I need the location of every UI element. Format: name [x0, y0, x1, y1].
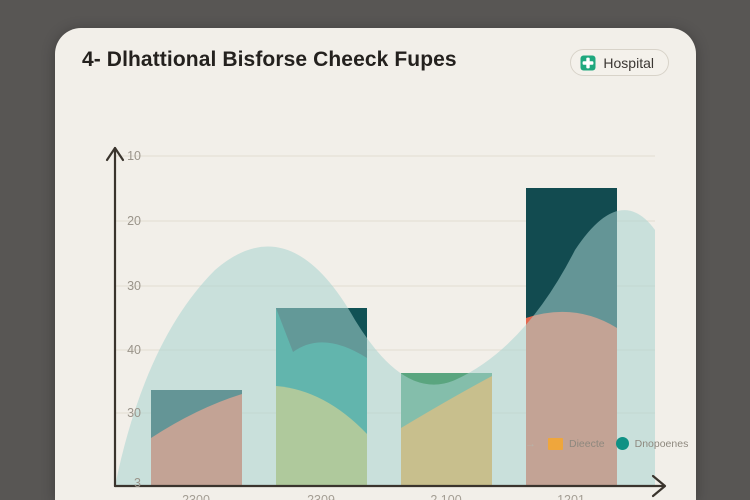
screenshot-root: 4- Dlhattional Bisforse Cheeck Fupes Hos… [0, 0, 750, 500]
legend-label: Dnopoenes [635, 438, 689, 450]
xtick-label: 2.100 [391, 493, 501, 500]
xtick-label: 2300 [141, 493, 251, 500]
card-header: 4- Dlhattional Bisforse Cheeck Fupes Hos… [55, 28, 696, 90]
ytick-label: 30 [107, 279, 141, 293]
xtick-label: 2309 [266, 493, 376, 500]
ytick-label: 40 [107, 343, 141, 357]
legend-item-dnopoenes[interactable]: Dnopoenes [616, 437, 689, 450]
green-cross-icon [580, 55, 596, 71]
ytick-label: 10 [107, 149, 141, 163]
ytick-label: 30 [107, 406, 141, 420]
legend-swatch-circle-icon [616, 437, 629, 450]
chart-card: 4- Dlhattional Bisforse Cheeck Fupes Hos… [55, 28, 696, 500]
legend-arrow-icon: → [525, 438, 536, 450]
legend-swatch-square-icon [548, 438, 563, 450]
legend-item-dieecte[interactable]: Dieecte [548, 438, 605, 450]
hospital-badge[interactable]: Hospital [570, 49, 669, 76]
ytick-label: 20 [107, 214, 141, 228]
hospital-badge-label: Hospital [603, 55, 654, 71]
chart-legend: → Dieecte Dnopoenes [525, 437, 688, 450]
xtick-label: 1201 [516, 493, 626, 500]
legend-label: Dieecte [569, 438, 605, 450]
page-title: 4- Dlhattional Bisforse Cheeck Fupes [82, 48, 457, 72]
ytick-label: 3 [107, 476, 141, 490]
